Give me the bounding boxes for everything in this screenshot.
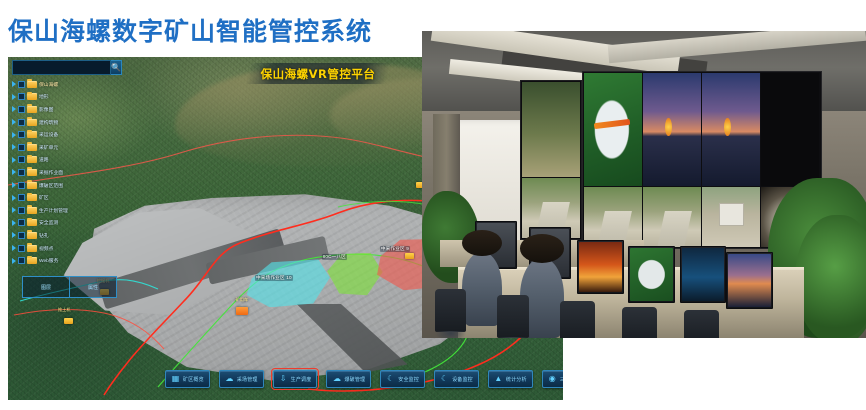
toolbar-button-label: 统计分析	[506, 376, 527, 383]
zone-label-red: 中采作业区 9	[380, 246, 410, 252]
toolbar-button-label: 生产调度	[291, 376, 312, 383]
chevron-right-icon[interactable]	[12, 106, 16, 112]
chevron-right-icon[interactable]	[12, 94, 16, 100]
equipment-label-dozer: 推土机	[58, 307, 71, 313]
folder-icon	[27, 257, 37, 264]
checkbox[interactable]	[18, 245, 25, 252]
chevron-right-icon[interactable]	[12, 182, 16, 188]
search-icon[interactable]: 🔍	[111, 60, 122, 75]
search-row[interactable]: 🔍	[12, 60, 107, 75]
checkbox[interactable]	[18, 169, 25, 176]
bottom-toolbar[interactable]: ▦ 矿区概览 ☁ 采场管理 ⇩ 生产调度 ☁ 爆破管理 ☾ 安全监控 ☾ 设备监…	[165, 370, 563, 388]
tree-item-label: 视频点	[39, 245, 53, 252]
tree-item-label: Web服务	[39, 257, 58, 264]
haul-road-screen	[584, 187, 642, 246]
chevron-right-icon[interactable]	[12, 207, 16, 213]
cloud-icon: ☁	[332, 375, 341, 384]
chevron-right-icon[interactable]	[12, 232, 16, 238]
desk-monitor	[680, 246, 726, 303]
toolbar-button-label: 采场管理	[237, 376, 258, 383]
chevron-right-icon[interactable]	[12, 81, 16, 87]
checkbox[interactable]	[18, 194, 25, 201]
folder-icon	[27, 207, 37, 214]
moon-icon: ☾	[386, 375, 395, 384]
checkbox[interactable]	[18, 232, 25, 239]
equipment-label-truck: 矿用车	[236, 297, 249, 303]
tree-item-label: 地形	[39, 93, 49, 100]
tree-item-imagery[interactable]: 影像图	[12, 103, 109, 116]
tree-item-label: 钻孔	[39, 232, 49, 239]
tree-item-label: 爆破区范围	[39, 182, 63, 189]
monitor-screen	[630, 248, 672, 301]
toolbar-button-statistics[interactable]: ▲ 统计分析	[488, 370, 533, 388]
folder-icon	[27, 182, 37, 189]
toolbar-button-label: 安全监控	[398, 376, 419, 383]
tree-item-label: 影像图	[39, 106, 53, 113]
toolbar-button-label: 三维场景漫游	[560, 376, 563, 383]
person-head	[520, 234, 564, 263]
chevron-right-icon[interactable]	[12, 195, 16, 201]
folder-icon	[27, 194, 37, 201]
folder-icon	[27, 119, 37, 126]
mine-map-screen	[584, 73, 642, 186]
chevron-right-icon[interactable]	[12, 220, 16, 226]
chair-base	[497, 337, 528, 338]
folder-icon	[27, 156, 37, 163]
desk-monitor	[628, 246, 674, 303]
folder-icon	[27, 232, 37, 239]
layer-tree-panel[interactable]: 🔍 保山海螺 地形 影	[9, 58, 109, 288]
toolbar-button-blasting[interactable]: ☁ 爆破管理	[326, 370, 371, 388]
chevron-right-icon[interactable]	[12, 258, 16, 264]
checkbox[interactable]	[18, 81, 25, 88]
chart-icon: ▲	[494, 375, 503, 384]
page-title: 保山海螺数字矿山智能管控系统	[8, 12, 372, 48]
folder-icon	[27, 93, 37, 100]
tree-item-label: 采运设备	[39, 131, 58, 138]
checkbox[interactable]	[18, 219, 25, 226]
monitor-screen	[579, 242, 621, 292]
toolbar-button-label: 爆破管理	[344, 376, 365, 383]
tree-item-terrain[interactable]: 地形	[12, 91, 109, 104]
toolbar-button-scene-roam[interactable]: ◉ 三维场景漫游	[542, 370, 563, 388]
mini-panel-button-properties[interactable]: 属性	[70, 277, 116, 297]
folder-icon	[27, 106, 37, 113]
mini-panel-button-layers[interactable]: 图层	[23, 277, 70, 297]
layer-tree[interactable]: 保山海螺 地形 影像图 建构筑物	[9, 78, 109, 267]
tree-item-video-points[interactable]: 视频点	[12, 242, 109, 255]
chevron-right-icon[interactable]	[12, 157, 16, 163]
globe-icon: ◉	[548, 375, 557, 384]
toolbar-button-label: 矿区概览	[183, 376, 204, 383]
search-input[interactable]	[12, 60, 111, 75]
tree-item-label: 安全监测	[39, 219, 58, 226]
zone-label-green: 80C一八区	[322, 254, 347, 260]
folder-icon	[27, 131, 37, 138]
chair	[622, 307, 658, 338]
black-screen	[761, 73, 819, 186]
folder-icon	[27, 245, 37, 252]
tree-item-working-face[interactable]: 采掘作业面	[12, 166, 109, 179]
cloud-icon: ☁	[225, 375, 234, 384]
chair	[497, 295, 528, 338]
tree-item-buildings[interactable]: 建构筑物	[12, 116, 109, 129]
tree-item-boreholes[interactable]: 钻孔	[12, 229, 109, 242]
checkbox[interactable]	[18, 257, 25, 264]
dusk-reservoir-screen	[702, 73, 760, 186]
equipment-marker-drill[interactable]	[405, 253, 414, 259]
plant-right-secondary	[795, 215, 866, 338]
tree-item-mining-unit[interactable]: 采矿单元	[12, 141, 109, 154]
chevron-right-icon[interactable]	[12, 144, 16, 150]
tree-item-web-service[interactable]: Web服务	[12, 254, 109, 267]
toolbar-button-overview[interactable]: ▦ 矿区概览	[165, 370, 210, 388]
zone-label-cyan: 中采场作业区 10	[255, 275, 293, 281]
desk-monitor	[577, 240, 623, 294]
toolbar-button-pit-management[interactable]: ☁ 采场管理	[219, 370, 264, 388]
valley-road-screen	[643, 187, 701, 246]
checkbox[interactable]	[18, 93, 25, 100]
toolbar-button-label: 设备监控	[452, 376, 473, 383]
vr-platform-banner-text: 保山海螺VR管控平台	[261, 66, 376, 82]
download-icon: ⇩	[279, 375, 288, 384]
toolbar-button-production-dispatch[interactable]: ⇩ 生产调度	[273, 370, 318, 388]
tree-item-root[interactable]: 保山海螺	[12, 78, 109, 91]
moon-icon: ☾	[440, 375, 449, 384]
vr-platform-banner: 保山海螺VR管控平台	[248, 63, 388, 84]
toolbar-button-safety[interactable]: ☾ 安全监控	[380, 370, 425, 388]
folder-icon	[27, 144, 37, 151]
chevron-right-icon[interactable]	[12, 169, 16, 175]
folder-icon	[27, 169, 37, 176]
control-room-photo	[422, 31, 866, 338]
chair	[560, 301, 596, 338]
monitor-screen	[682, 248, 724, 301]
tree-item-label: 采掘作业面	[39, 169, 63, 176]
tree-item-label: 建构筑物	[39, 119, 58, 126]
chevron-right-icon[interactable]	[12, 132, 16, 138]
desk-monitor	[726, 252, 772, 309]
chair	[435, 289, 466, 332]
toolbar-button-device-monitor[interactable]: ☾ 设备监控	[434, 370, 479, 388]
building-icon: ▦	[171, 375, 180, 384]
tree-item-label: 采矿单元	[39, 144, 58, 151]
checkbox[interactable]	[18, 106, 25, 113]
cliff-screen	[522, 82, 580, 177]
video-wall-side-column	[520, 80, 582, 240]
folder-icon	[27, 81, 37, 88]
tree-item-blast-zone[interactable]: 爆破区范围	[12, 179, 109, 192]
tree-item-equipment[interactable]: 采运设备	[12, 128, 109, 141]
tree-item-safety-monitor[interactable]: 安全监测	[12, 217, 109, 230]
tree-item-label: 矿区	[39, 194, 49, 201]
operator-person	[462, 252, 502, 326]
layer-mini-panel[interactable]: 图层 属性	[22, 276, 117, 298]
tree-item-label: 道路	[39, 156, 49, 163]
tree-item-label: 生产计划管理	[39, 207, 68, 214]
chair	[684, 310, 720, 338]
chevron-right-icon[interactable]	[12, 245, 16, 251]
tree-item-roads[interactable]: 道路	[12, 154, 109, 167]
chair-base	[435, 331, 466, 338]
chevron-right-icon[interactable]	[12, 119, 16, 125]
tree-item-production-plan[interactable]: 生产计划管理	[12, 204, 109, 217]
equipment-marker-truck[interactable]	[236, 307, 248, 315]
equipment-marker-aux[interactable]	[64, 318, 73, 324]
monitor-screen	[728, 254, 770, 307]
tree-item-label: 保山海螺	[39, 81, 58, 88]
folder-icon	[27, 219, 37, 226]
checkbox[interactable]	[18, 156, 25, 163]
checkbox[interactable]	[18, 119, 25, 126]
tree-item-mine-area[interactable]: 矿区	[12, 191, 109, 204]
dusk-reservoir-screen	[643, 73, 701, 186]
checkbox[interactable]	[18, 207, 25, 214]
plant-gate-screen	[702, 187, 760, 246]
checkbox[interactable]	[18, 131, 25, 138]
checkbox[interactable]	[18, 182, 25, 189]
checkbox[interactable]	[18, 144, 25, 151]
screenshot-root: 保山海螺数字矿山智能管控系统 中采场作业区 10 80C一八区 中采作业区 9	[0, 0, 866, 410]
